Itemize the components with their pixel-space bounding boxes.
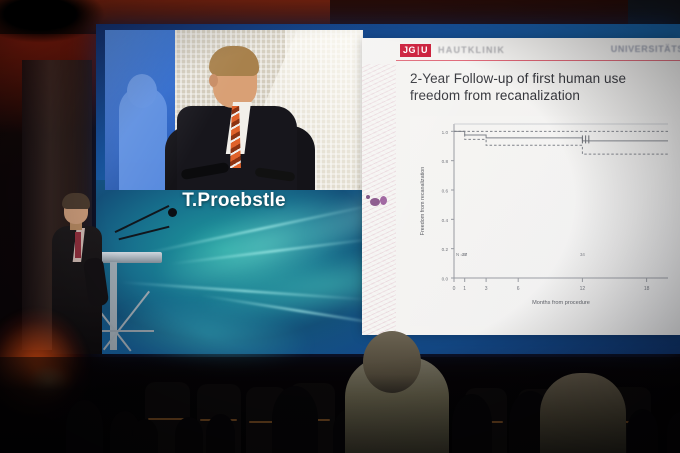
y-tick-label: 0.2 bbox=[442, 247, 449, 252]
series-survival-estimate bbox=[454, 131, 668, 141]
department-label: HAUTKLINIK bbox=[438, 45, 505, 55]
conference-photo: T.Proebstle JG|U HAUTKLINIK UNIVERSITÄTS… bbox=[0, 0, 680, 453]
y-tick-label: 0.0 bbox=[442, 277, 449, 282]
speaker-video-feed bbox=[105, 30, 363, 190]
jgu-logo-divider: | bbox=[417, 45, 420, 56]
x-tick-label: 6 bbox=[517, 286, 520, 292]
jgu-logo-right: U bbox=[421, 45, 428, 56]
presenter-tie bbox=[75, 232, 81, 258]
histology-cell-cluster bbox=[366, 195, 370, 199]
jgu-logo-left: JG bbox=[403, 45, 416, 56]
y-tick-label: 0.4 bbox=[442, 218, 449, 223]
speaker-name-caption: T.Proebstle bbox=[105, 186, 363, 216]
header-rule bbox=[396, 60, 680, 61]
slide-title-line-1: 2-Year Follow-up of first human use bbox=[410, 70, 672, 87]
y-axis-label: Freedom from recanalization bbox=[420, 167, 426, 236]
x-tick-label: 12 bbox=[580, 286, 586, 292]
stage-light-core bbox=[14, 352, 84, 412]
feed-glare bbox=[105, 30, 363, 190]
y-tick-label: 0.8 bbox=[442, 159, 449, 164]
presentation-slide: JG|U HAUTKLINIK UNIVERSITÄTS 2-Year Foll… bbox=[362, 38, 680, 335]
microphone-head bbox=[168, 208, 177, 217]
y-tick-label: 1.0 bbox=[442, 130, 449, 135]
kaplan-meier-svg: 0.00.20.40.60.81.0Freedom from recanaliz… bbox=[410, 116, 672, 326]
slide-title-line-2: freedom from recanalization bbox=[410, 87, 672, 104]
histology-cell-cluster bbox=[380, 196, 387, 205]
university-logo: JG|U HAUTKLINIK bbox=[400, 43, 505, 57]
x-axis-label: Months from procedure bbox=[532, 300, 590, 306]
universitaetsmedizin-label: UNIVERSITÄTS bbox=[611, 44, 680, 54]
slide-title: 2-Year Follow-up of first human use free… bbox=[410, 70, 672, 104]
presenter-hair bbox=[62, 193, 90, 209]
kaplan-meier-chart: 0.00.20.40.60.81.0Freedom from recanaliz… bbox=[410, 116, 672, 326]
numbers-at-risk-value: 34 bbox=[580, 252, 585, 257]
histology-cell-cluster bbox=[370, 198, 380, 206]
x-tick-label: 18 bbox=[644, 286, 650, 292]
y-tick-label: 0.6 bbox=[442, 189, 449, 194]
x-tick-label: 0 bbox=[453, 286, 456, 292]
jgu-logo-mark: JG|U bbox=[400, 44, 431, 57]
x-tick-label: 3 bbox=[485, 286, 488, 292]
speaker-name-text: T.Proebstle bbox=[182, 190, 286, 212]
x-tick-label: 1 bbox=[463, 286, 466, 292]
numbers-at-risk-value: 37 bbox=[462, 252, 467, 257]
